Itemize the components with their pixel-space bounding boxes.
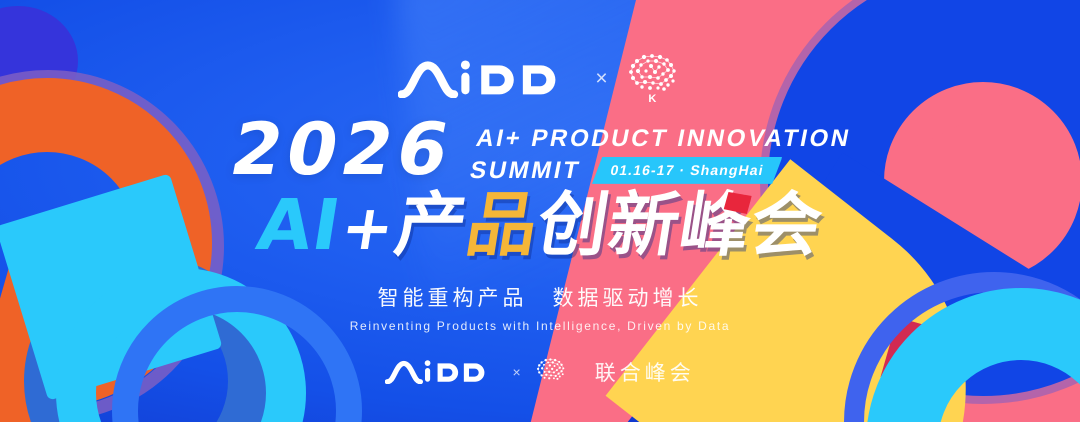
top-brand-lockup: × xyxy=(398,52,681,105)
lockup-cross-icon: × xyxy=(595,68,607,89)
title-char-hui: 会 xyxy=(746,190,828,260)
event-banner: × xyxy=(0,0,1080,422)
banner-content: × xyxy=(0,0,1080,422)
date-location-badge: 01.16-17 · ShangHai xyxy=(592,157,782,184)
title-char-xin: 新 xyxy=(604,190,686,260)
chinese-title: AI + 产 品 创 新 峰 会 xyxy=(252,190,827,260)
title-char-chuang: 创 xyxy=(533,190,615,260)
title-ai: AI xyxy=(252,190,345,260)
event-year: 2026 xyxy=(226,119,458,181)
summit-date-row: SUMMIT 01.16-17 · ShangHai xyxy=(468,157,848,185)
brain-network-logo-icon: K xyxy=(624,52,682,105)
english-title-line1: AI+ PRODUCT INNOVATION xyxy=(474,125,854,153)
headline-row: 2026 AI+ PRODUCT INNOVATION SUMMIT 01.16… xyxy=(232,119,849,184)
title-plus: + xyxy=(337,197,399,259)
title-char-feng-wrap: 峰 xyxy=(675,190,757,260)
title-char-chan: 产 xyxy=(391,190,473,260)
title-char-feng: 峰 xyxy=(674,186,757,264)
footer-cross-icon: × xyxy=(513,364,521,380)
brain-logo-letter: K xyxy=(648,93,656,105)
footer-aidd-wordmark-icon xyxy=(385,360,499,384)
subtitle-english: Reinventing Products with Intelligence, … xyxy=(350,319,731,333)
footer-label: 联合峰会 xyxy=(595,357,695,387)
aidd-wordmark-icon xyxy=(398,60,579,98)
english-title-block: AI+ PRODUCT INNOVATION SUMMIT 01.16-17 ·… xyxy=(468,119,855,184)
english-title-line2: SUMMIT xyxy=(468,157,584,185)
subtitle-chinese: 智能重构产品 数据驱动增长 xyxy=(378,282,703,312)
title-char-pin: 品 xyxy=(462,190,544,260)
bottom-brand-lockup: × xyxy=(385,357,694,387)
footer-brain-network-logo-icon xyxy=(534,357,568,387)
